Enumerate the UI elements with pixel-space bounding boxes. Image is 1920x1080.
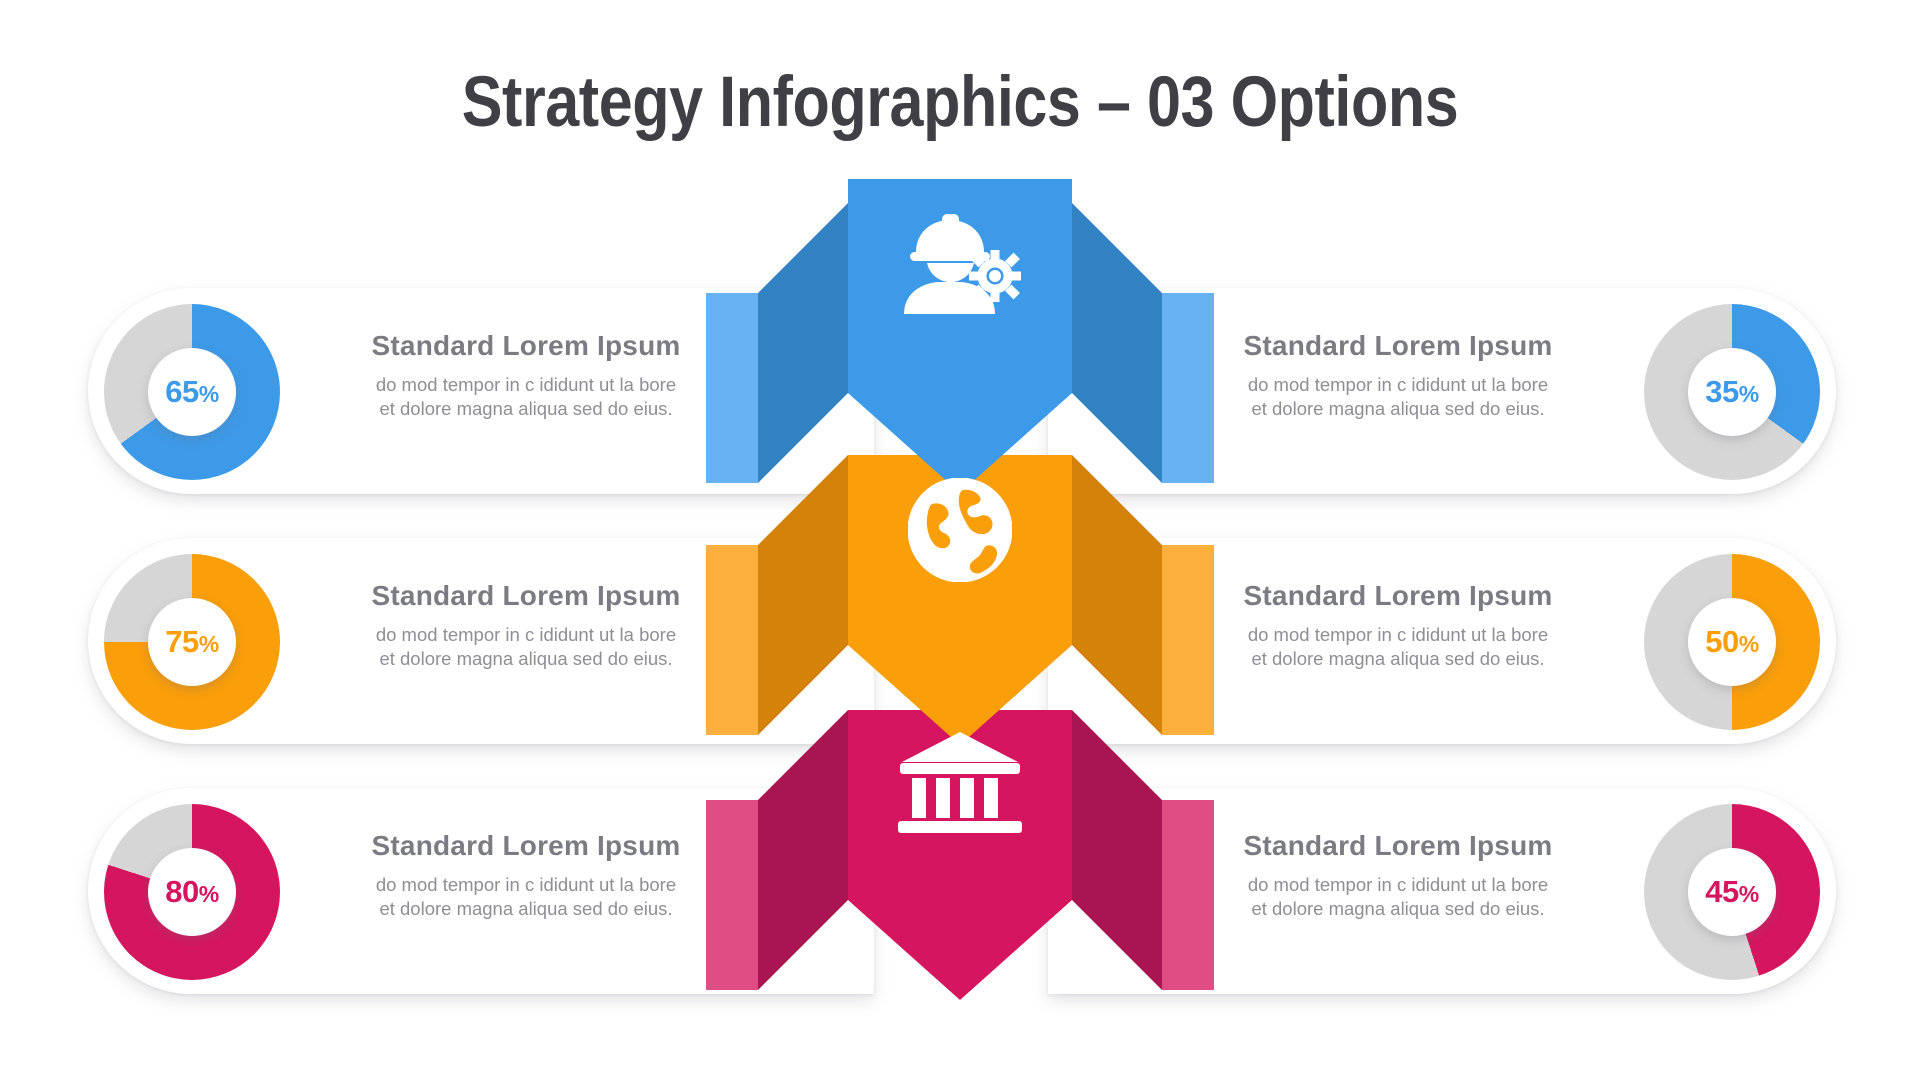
card-heading: Standard Lorem Ipsum — [1188, 330, 1608, 362]
card-body-line2: et dolore magna aliqua sed do eius. — [1188, 397, 1608, 421]
card-pink-right[interactable]: 45% Standard Lorem Ipsum do mod tempor i… — [1048, 788, 1836, 994]
card-heading: Standard Lorem Ipsum — [316, 330, 736, 362]
page-title: Strategy Infographics – 03 Options — [134, 62, 1785, 143]
card-body-line2: et dolore magna aliqua sed do eius. — [1188, 647, 1608, 671]
row-orange: 75% Standard Lorem Ipsum do mod tempor i… — [0, 538, 1920, 744]
row-pink: 80% Standard Lorem Ipsum do mod tempor i… — [0, 788, 1920, 994]
card-body-line2: et dolore magna aliqua sed do eius. — [316, 647, 736, 671]
text-block-pink-right: Standard Lorem Ipsum do mod tempor in c … — [1188, 830, 1608, 922]
donut-percent-label: 75% — [165, 624, 218, 660]
card-body-line2: et dolore magna aliqua sed do eius. — [316, 397, 736, 421]
donut-chart-50: 50% — [1644, 554, 1820, 730]
card-body-line1: do mod tempor in c ididunt ut la bore — [316, 373, 736, 397]
donut-chart-80: 80% — [104, 804, 280, 980]
donut-center: 80% — [148, 848, 236, 936]
card-blue-left[interactable]: 65% Standard Lorem Ipsum do mod tempor i… — [88, 288, 874, 494]
donut-percent-label: 65% — [165, 374, 218, 410]
text-block-blue-left: Standard Lorem Ipsum do mod tempor in c … — [316, 330, 736, 422]
text-block-orange-left: Standard Lorem Ipsum do mod tempor in c … — [316, 580, 736, 672]
donut-center: 50% — [1688, 598, 1776, 686]
card-heading: Standard Lorem Ipsum — [1188, 830, 1608, 862]
card-body-line1: do mod tempor in c ididunt ut la bore — [316, 873, 736, 897]
donut-chart-35: 35% — [1644, 304, 1820, 480]
card-body-line2: et dolore magna aliqua sed do eius. — [1188, 897, 1608, 921]
card-blue-right[interactable]: 35% Standard Lorem Ipsum do mod tempor i… — [1048, 288, 1836, 494]
card-body-line2: et dolore magna aliqua sed do eius. — [316, 897, 736, 921]
donut-chart-75: 75% — [104, 554, 280, 730]
donut-center: 65% — [148, 348, 236, 436]
row-blue: 65% Standard Lorem Ipsum do mod tempor i… — [0, 288, 1920, 494]
card-body-line1: do mod tempor in c ididunt ut la bore — [316, 623, 736, 647]
text-block-orange-right: Standard Lorem Ipsum do mod tempor in c … — [1188, 580, 1608, 672]
text-block-blue-right: Standard Lorem Ipsum do mod tempor in c … — [1188, 330, 1608, 422]
infographic-slide: Strategy Infographics – 03 Options 65% S… — [0, 0, 1920, 1080]
card-orange-right[interactable]: 50% Standard Lorem Ipsum do mod tempor i… — [1048, 538, 1836, 744]
donut-percent-label: 80% — [165, 874, 218, 910]
donut-center: 75% — [148, 598, 236, 686]
donut-center: 45% — [1688, 848, 1776, 936]
donut-center: 35% — [1688, 348, 1776, 436]
card-body-line1: do mod tempor in c ididunt ut la bore — [1188, 623, 1608, 647]
card-body-line1: do mod tempor in c ididunt ut la bore — [1188, 873, 1608, 897]
text-block-pink-left: Standard Lorem Ipsum do mod tempor in c … — [316, 830, 736, 922]
card-pink-left[interactable]: 80% Standard Lorem Ipsum do mod tempor i… — [88, 788, 874, 994]
card-heading: Standard Lorem Ipsum — [316, 830, 736, 862]
donut-percent-label: 45% — [1705, 874, 1758, 910]
donut-chart-65: 65% — [104, 304, 280, 480]
card-heading: Standard Lorem Ipsum — [1188, 580, 1608, 612]
card-heading: Standard Lorem Ipsum — [316, 580, 736, 612]
donut-percent-label: 50% — [1705, 624, 1758, 660]
donut-chart-45: 45% — [1644, 804, 1820, 980]
card-orange-left[interactable]: 75% Standard Lorem Ipsum do mod tempor i… — [88, 538, 874, 744]
donut-percent-label: 35% — [1705, 374, 1758, 410]
card-body-line1: do mod tempor in c ididunt ut la bore — [1188, 373, 1608, 397]
